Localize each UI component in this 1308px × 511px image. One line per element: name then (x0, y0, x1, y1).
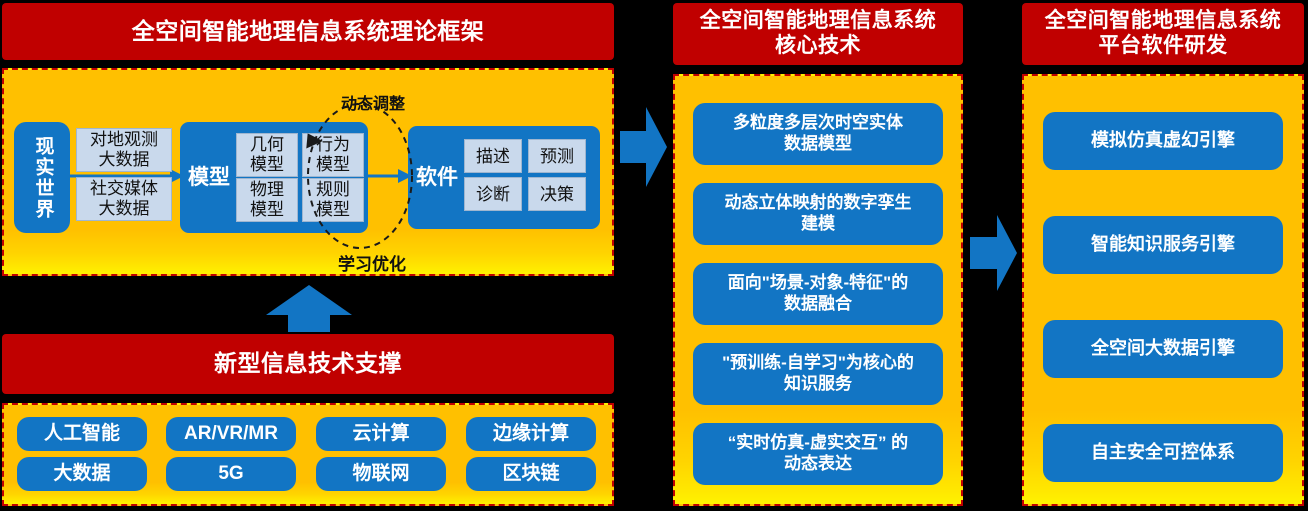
cell-description-label: 描述 (476, 148, 510, 165)
chip-platform-item-4[interactable]: 自主安全可控体系 (1043, 424, 1283, 482)
chip-tech-blockchain[interactable]: 区块链 (466, 457, 596, 491)
cell-prediction-label: 预测 (540, 148, 574, 165)
label-learning-optimization: 学习优化 (338, 250, 406, 275)
cell-earth-observation-bigdata: 对地观测 大数据 (76, 128, 172, 172)
cell-diagnosis-label: 诊断 (476, 186, 510, 203)
chip-tech-ai[interactable]: 人工智能 (17, 417, 147, 451)
chip-tech-bigdata[interactable]: 大数据 (17, 457, 147, 491)
cell-decision: 决策 (528, 177, 586, 211)
column-theory-framework: 全空间智能地理信息系统理论框架 现实世界 对地观测 大数据 社交媒体 大数据 模… (0, 0, 616, 511)
cell-diagnosis: 诊断 (464, 177, 522, 211)
cell-description: 描述 (464, 139, 522, 173)
arrow-core-to-platform (970, 213, 1018, 293)
chip-core-item-3[interactable]: 面向"场景-对象-特征"的 数据融合 (693, 263, 943, 325)
chip-core-item-5[interactable]: “实时仿真-虚实交互” 的 动态表达 (693, 423, 943, 485)
cell-social-media-bigdata: 社交媒体 大数据 (76, 177, 172, 221)
chip-core-item-4[interactable]: "预训练-自学习"为核心的 知识服务 (693, 343, 943, 405)
chip-core-item-2[interactable]: 动态立体映射的数字孪生 建模 (693, 183, 943, 245)
chip-software-label: 软件 (416, 165, 458, 191)
cell-decision-label: 决策 (540, 186, 574, 203)
feedback-loop-ellipse (300, 100, 420, 252)
chip-platform-item-1[interactable]: 模拟仿真虚幻引擎 (1043, 112, 1283, 170)
chip-tech-iot[interactable]: 物联网 (316, 457, 446, 491)
banner-new-it-support: 新型信息技术支撑 (2, 334, 614, 394)
chip-real-world-label: 现实世界 (32, 136, 53, 220)
arrow-support-to-framework (264, 285, 354, 333)
label-dynamic-adjustment: 动态调整 (341, 90, 405, 114)
banner-theory-framework: 全空间智能地理信息系统理论框架 (2, 3, 614, 60)
banner-platform-software: 全空间智能地理信息系统 平台软件研发 (1022, 3, 1304, 65)
cell-geometry-model-label: 几何 模型 (250, 135, 284, 174)
chip-core-item-1[interactable]: 多粒度多层次时空实体 数据模型 (693, 103, 943, 165)
column-platform-software: 全空间智能地理信息系统 平台软件研发 模拟仿真虚幻引擎 智能知识服务引擎 全空间… (1018, 0, 1308, 511)
banner-core-technology: 全空间智能地理信息系统 核心技术 (673, 3, 963, 65)
chip-real-world[interactable]: 现实世界 (14, 122, 70, 233)
chip-platform-item-2[interactable]: 智能知识服务引擎 (1043, 216, 1283, 274)
chip-tech-arvrmr[interactable]: AR/VR/MR (166, 417, 296, 451)
cell-earth-observation-bigdata-label: 对地观测 大数据 (90, 130, 158, 169)
chip-tech-cloud[interactable]: 云计算 (316, 417, 446, 451)
cell-physics-model-label: 物理 模型 (250, 180, 284, 219)
chip-tech-edge[interactable]: 边缘计算 (466, 417, 596, 451)
cell-physics-model: 物理 模型 (236, 178, 298, 222)
cell-social-media-bigdata-label: 社交媒体 大数据 (90, 179, 158, 218)
chip-tech-5g[interactable]: 5G (166, 457, 296, 491)
cell-prediction: 预测 (528, 139, 586, 173)
arrow-theory-to-core (620, 103, 668, 191)
column-core-technology: 全空间智能地理信息系统 核心技术 多粒度多层次时空实体 数据模型 动态立体映射的… (668, 0, 968, 511)
cell-geometry-model: 几何 模型 (236, 133, 298, 177)
chip-model-label: 模型 (188, 165, 230, 191)
chip-platform-item-3[interactable]: 全空间大数据引擎 (1043, 320, 1283, 378)
